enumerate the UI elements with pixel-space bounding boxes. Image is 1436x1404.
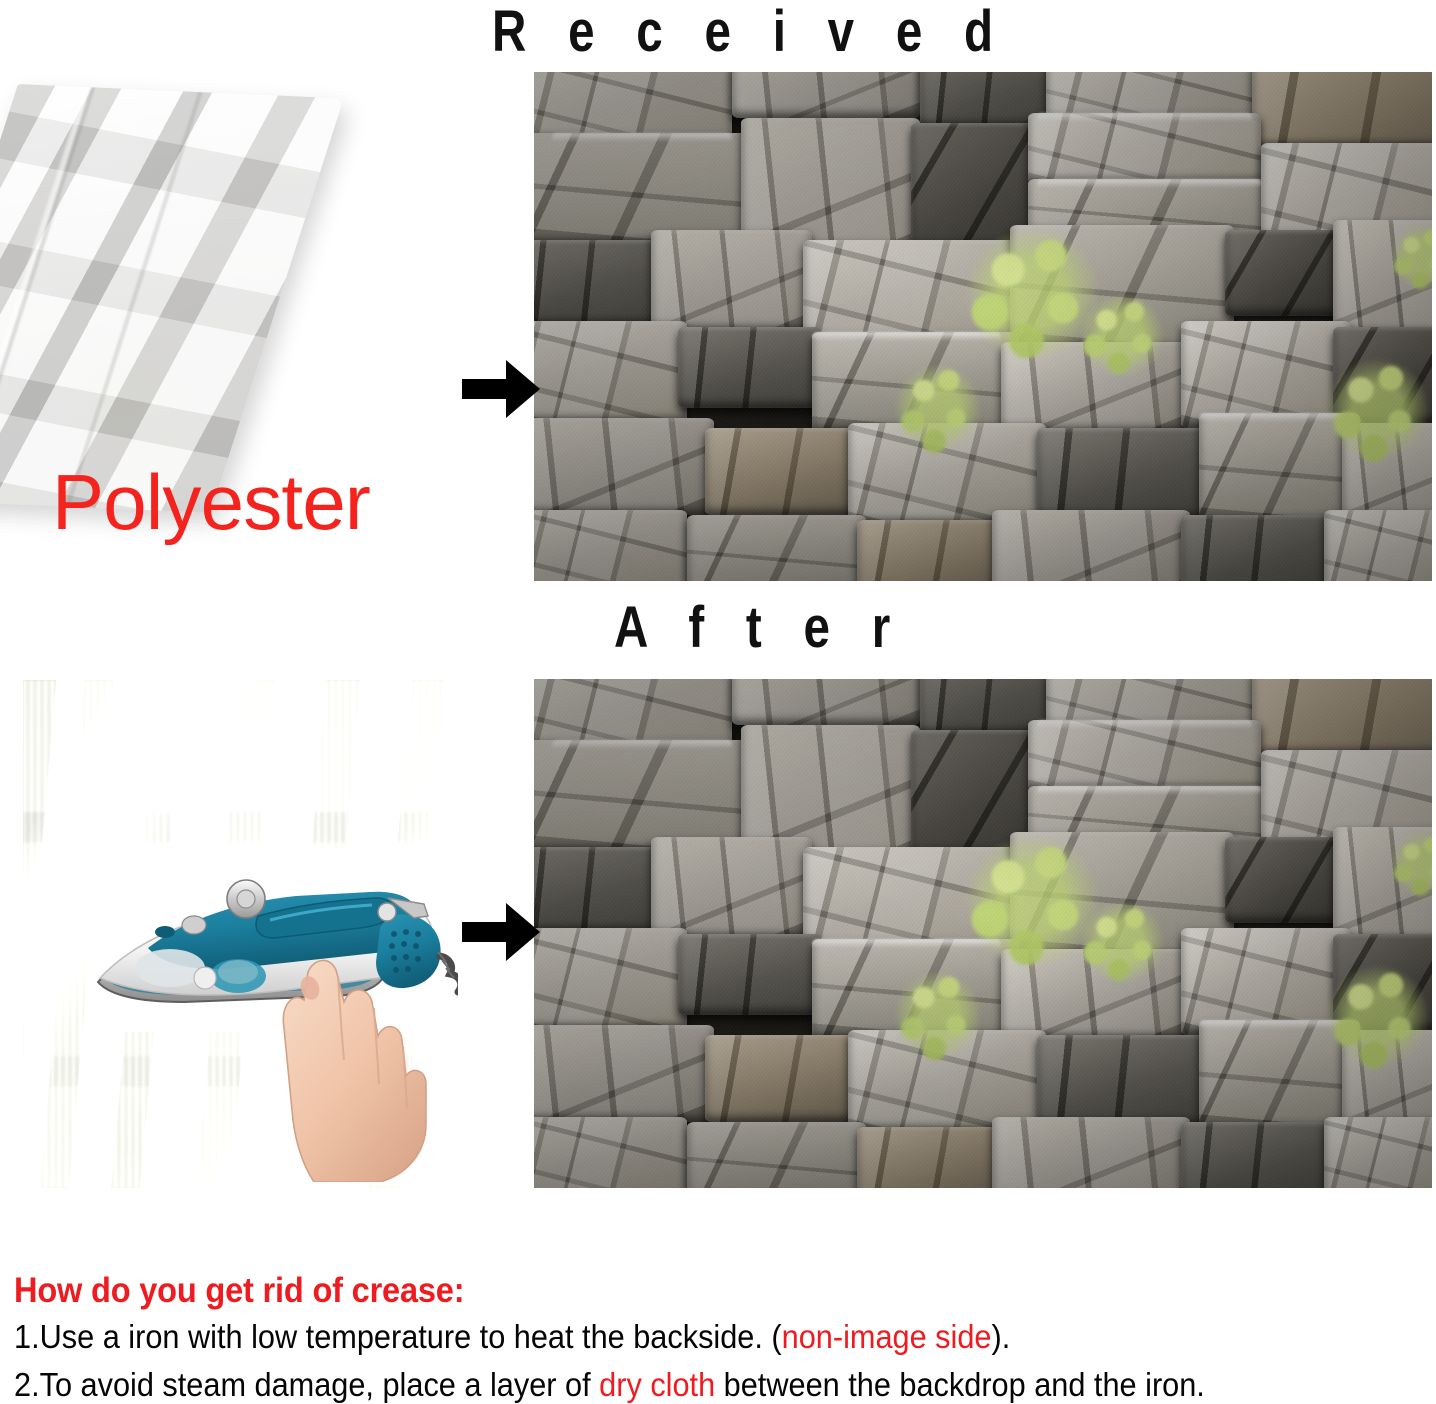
fabric-sheet bbox=[0, 84, 344, 513]
care-line-1-post: ). bbox=[991, 1318, 1010, 1355]
infographic-canvas: R e c e i v e d Polyester bbox=[0, 0, 1436, 1401]
clothes-iron-icon bbox=[88, 852, 458, 1182]
care-line-2-highlight: dry cloth bbox=[599, 1366, 715, 1403]
hand-icon bbox=[283, 960, 426, 1182]
folded-fabric-image bbox=[18, 84, 406, 504]
section-title-after: A f t e r bbox=[614, 594, 904, 661]
care-instruction-line-1: 1.Use a iron with low temperature to hea… bbox=[14, 1317, 1325, 1357]
right-arrow-icon bbox=[462, 903, 540, 966]
right-arrow-icon bbox=[462, 360, 540, 423]
received-backdrop-photo bbox=[534, 72, 1432, 581]
care-line-2-post: between the backdrop and the iron. bbox=[715, 1366, 1205, 1403]
care-line-1-pre: 1.Use a iron with low temperature to hea… bbox=[14, 1318, 782, 1355]
section-title-received: R e c e i v e d bbox=[492, 0, 1007, 65]
care-instruction-line-2: 2.To avoid steam damage, place a layer o… bbox=[14, 1365, 1325, 1404]
after-backdrop-photo bbox=[534, 679, 1432, 1188]
material-label-polyester: Polyester bbox=[52, 457, 370, 548]
care-instructions-title: How do you get rid of crease: bbox=[14, 1272, 1325, 1309]
care-instructions: How do you get rid of crease: 1.Use a ir… bbox=[14, 1272, 1424, 1404]
care-line-1-highlight: non-image side bbox=[782, 1318, 992, 1355]
care-line-2-pre: 2.To avoid steam damage, place a layer o… bbox=[14, 1366, 599, 1403]
